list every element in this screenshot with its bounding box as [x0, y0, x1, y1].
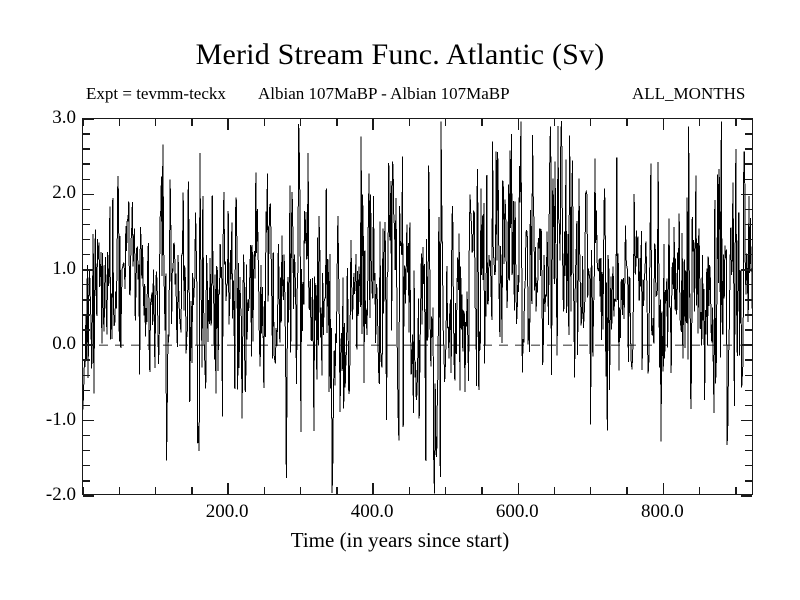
- chart-title: Merid Stream Func. Atlantic (Sv): [0, 38, 800, 72]
- x-tick-top-650: [554, 119, 555, 126]
- x-tick-700: [590, 487, 591, 494]
- y-tick--1.0: [83, 420, 94, 422]
- x-tick-top-200: [227, 119, 229, 130]
- y-tick--2.0: [83, 495, 94, 497]
- x-axis-title: Time (in years since start): [0, 528, 800, 552]
- x-tick-label-800: 800.0: [641, 502, 684, 522]
- y-tick-right-0.4: [745, 314, 752, 315]
- y-tick-label-3.0: 3.0: [52, 108, 76, 127]
- y-tick-1.8: [83, 209, 90, 210]
- y-tick-right-2.2: [745, 179, 752, 180]
- x-tick-900: [735, 487, 736, 494]
- data-series-line: [83, 119, 752, 494]
- x-tick-label-600: 600.0: [496, 502, 539, 522]
- x-tick-300: [300, 487, 301, 494]
- x-tick-250: [264, 487, 265, 494]
- subtitle-period: Albian 107MaBP - Albian 107MaBP: [258, 83, 510, 105]
- y-tick-0.8: [83, 284, 90, 285]
- y-tick-1.6: [83, 224, 90, 225]
- x-tick-top-600: [518, 119, 520, 130]
- y-tick-right--0.8: [745, 405, 752, 406]
- y-tick-right-2.0: [741, 194, 752, 196]
- y-tick-2.4: [83, 163, 90, 164]
- x-tick-top-700: [590, 119, 591, 126]
- y-tick-right--1.4: [745, 450, 752, 451]
- y-tick-label--2.0: -2.0: [46, 485, 76, 504]
- x-tick-top-500: [445, 119, 446, 126]
- y-tick--0.8: [83, 405, 90, 406]
- y-tick--0.6: [83, 390, 90, 391]
- x-tick-800: [663, 483, 665, 494]
- y-tick-right-0.2: [745, 329, 752, 330]
- x-tick-600: [518, 483, 520, 494]
- y-tick-right-1.0: [741, 269, 752, 271]
- y-tick-right-0.0: [741, 344, 752, 346]
- x-tick-top-250: [264, 119, 265, 126]
- y-tick-1.0: [83, 269, 94, 271]
- y-tick-right--0.6: [745, 390, 752, 391]
- x-tick-0: [82, 487, 83, 494]
- y-tick-right-2.4: [745, 163, 752, 164]
- chart-subtitle: Expt = tevmm-teckx Albian 107MaBP - Albi…: [86, 83, 758, 105]
- x-tick-label-200: 200.0: [206, 502, 249, 522]
- x-tick-top-350: [336, 119, 337, 126]
- x-tick-450: [409, 487, 410, 494]
- x-tick-400: [372, 483, 374, 494]
- plot-inner: [83, 119, 752, 494]
- y-tick--1.4: [83, 450, 90, 451]
- y-tick-right-1.8: [745, 209, 752, 210]
- y-tick-1.4: [83, 239, 90, 240]
- y-tick-1.2: [83, 254, 90, 255]
- y-tick-label--1.0: -1.0: [46, 410, 76, 429]
- x-tick-top-750: [626, 119, 627, 126]
- x-tick-top-400: [372, 119, 374, 130]
- x-tick-top-550: [481, 119, 482, 126]
- x-tick-top-100: [155, 119, 156, 126]
- y-tick-label-2.0: 2.0: [52, 183, 76, 202]
- y-tick-right--0.2: [745, 359, 752, 360]
- x-tick-top-150: [191, 119, 192, 126]
- chart-figure: Merid Stream Func. Atlantic (Sv) Expt = …: [0, 0, 800, 600]
- y-tick-right-2.6: [745, 148, 752, 149]
- subtitle-months: ALL_MONTHS: [632, 83, 745, 105]
- y-tick-right-1.4: [745, 239, 752, 240]
- y-tick-2.6: [83, 148, 90, 149]
- y-tick-right-0.6: [745, 299, 752, 300]
- y-tick-0.2: [83, 329, 90, 330]
- y-tick-right-1.6: [745, 224, 752, 225]
- y-tick-right-2.8: [745, 133, 752, 134]
- y-tick-right-0.8: [745, 284, 752, 285]
- x-tick-top-900: [735, 119, 736, 126]
- y-tick--1.2: [83, 435, 90, 436]
- y-tick-right--1.0: [741, 420, 752, 422]
- y-tick-right--2.0: [741, 495, 752, 497]
- y-tick-right--0.4: [745, 375, 752, 376]
- x-tick-top-0: [82, 119, 83, 126]
- x-tick-label-400: 400.0: [351, 502, 394, 522]
- x-tick-550: [481, 487, 482, 494]
- subtitle-experiment: Expt = tevmm-teckx: [86, 83, 226, 105]
- x-tick-top-450: [409, 119, 410, 126]
- y-tick-0.6: [83, 299, 90, 300]
- y-tick-right--1.8: [745, 480, 752, 481]
- y-tick--1.6: [83, 465, 90, 466]
- plot-area: [82, 118, 753, 495]
- x-tick-top-850: [699, 119, 700, 126]
- x-tick-650: [554, 487, 555, 494]
- y-tick-2.8: [83, 133, 90, 134]
- y-tick-right--1.6: [745, 465, 752, 466]
- x-tick-100: [155, 487, 156, 494]
- x-tick-500: [445, 487, 446, 494]
- x-tick-top-50: [119, 119, 120, 126]
- y-tick-3.0: [83, 118, 94, 120]
- y-tick--0.4: [83, 375, 90, 376]
- y-tick-right--1.2: [745, 435, 752, 436]
- y-tick-label-1.0: 1.0: [52, 259, 76, 278]
- y-tick--1.8: [83, 480, 90, 481]
- x-tick-50: [119, 487, 120, 494]
- y-tick-0.4: [83, 314, 90, 315]
- y-tick-2.2: [83, 179, 90, 180]
- y-tick-2.0: [83, 194, 94, 196]
- y-tick--0.2: [83, 359, 90, 360]
- y-tick-0.0: [83, 344, 94, 346]
- x-tick-200: [227, 483, 229, 494]
- x-tick-750: [626, 487, 627, 494]
- y-tick-right-3.0: [741, 118, 752, 120]
- x-tick-850: [699, 487, 700, 494]
- x-tick-top-800: [663, 119, 665, 130]
- x-tick-150: [191, 487, 192, 494]
- x-tick-top-300: [300, 119, 301, 126]
- y-tick-right-1.2: [745, 254, 752, 255]
- y-tick-label-0.0: 0.0: [52, 334, 76, 353]
- x-tick-350: [336, 487, 337, 494]
